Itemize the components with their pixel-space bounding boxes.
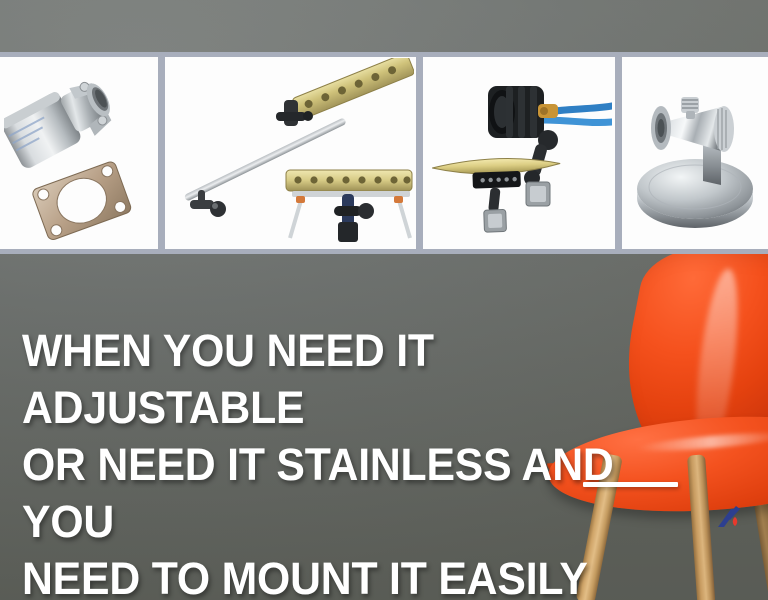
product-card-adjustable-bar[interactable] bbox=[165, 57, 417, 249]
headline-divider-rule bbox=[583, 482, 678, 487]
banner-stage: WHEN YOU NEED IT ADJUSTABLE OR NEED IT S… bbox=[0, 0, 768, 600]
stainless-magnetic-base-icon bbox=[625, 61, 765, 246]
adjustable-perforated-bar-icon bbox=[168, 58, 414, 248]
product-card-stainless-base[interactable] bbox=[622, 57, 768, 249]
brand-logo-icon[interactable] bbox=[711, 500, 747, 536]
hose-clamp-mount-icon bbox=[426, 58, 612, 248]
headline-text: WHEN YOU NEED IT ADJUSTABLE OR NEED IT S… bbox=[22, 322, 668, 600]
product-card-hose-clamp-mount[interactable] bbox=[423, 57, 615, 249]
product-thumbnail-strip bbox=[0, 52, 768, 254]
egr-valve-with-gasket-icon bbox=[4, 61, 154, 246]
product-card-egr-valve[interactable] bbox=[0, 57, 158, 249]
